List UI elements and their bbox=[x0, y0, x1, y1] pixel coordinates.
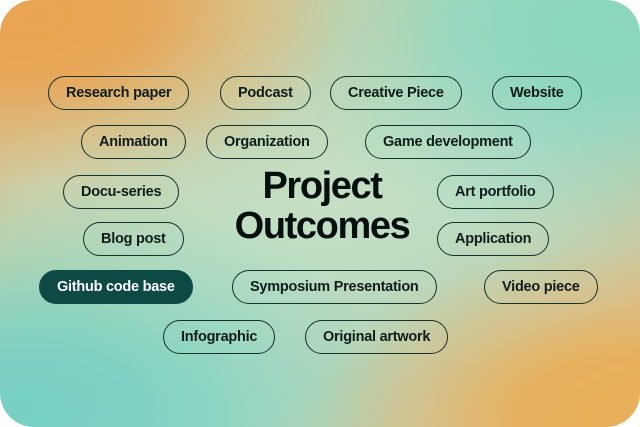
outcome-pill-label: Github code base bbox=[57, 280, 175, 295]
outcome-pill[interactable]: Animation bbox=[81, 125, 186, 159]
outcome-pill[interactable]: Podcast bbox=[220, 76, 311, 110]
outcome-pill-label: Application bbox=[455, 232, 531, 247]
outcome-pill[interactable]: Creative Piece bbox=[330, 76, 462, 110]
project-outcomes-card: Research paperPodcastCreative PieceWebsi… bbox=[0, 0, 640, 427]
outcome-pill-label: Blog post bbox=[101, 232, 166, 247]
page-title-line-1: Project bbox=[216, 166, 428, 206]
outcome-pill-label: Animation bbox=[99, 135, 168, 150]
outcome-pill-label: Symposium Presentation bbox=[250, 280, 419, 295]
page-title: Project Outcomes bbox=[216, 166, 428, 247]
outcome-pill-label: Video piece bbox=[502, 280, 580, 295]
outcome-pill[interactable]: Original artwork bbox=[305, 320, 448, 354]
outcome-pill[interactable]: Symposium Presentation bbox=[232, 270, 437, 304]
outcome-pill-label: Creative Piece bbox=[348, 86, 444, 101]
outcome-pill[interactable]: Art portfolio bbox=[437, 175, 554, 209]
outcome-pill-label: Game development bbox=[383, 135, 513, 150]
outcome-pill[interactable]: Infographic bbox=[163, 320, 275, 354]
outcome-pill-label: Art portfolio bbox=[455, 185, 536, 200]
outcome-pill[interactable]: Docu-series bbox=[63, 175, 179, 209]
outcome-pill-label: Docu-series bbox=[81, 185, 161, 200]
outcome-pill-label: Podcast bbox=[238, 86, 293, 101]
outcome-pill[interactable]: Application bbox=[437, 222, 549, 256]
outcome-pill-label: Infographic bbox=[181, 330, 257, 345]
outcome-pill-selected[interactable]: Github code base bbox=[39, 270, 193, 304]
outcome-pill-label: Organization bbox=[224, 135, 310, 150]
outcome-pill[interactable]: Video piece bbox=[484, 270, 598, 304]
outcome-pill[interactable]: Organization bbox=[206, 125, 328, 159]
outcome-pill[interactable]: Website bbox=[492, 76, 582, 110]
outcome-pill-label: Website bbox=[510, 86, 564, 101]
outcome-pill[interactable]: Blog post bbox=[83, 222, 184, 256]
page-title-line-2: Outcomes bbox=[216, 206, 428, 246]
outcome-pill-label: Original artwork bbox=[323, 330, 430, 345]
outcome-pill[interactable]: Game development bbox=[365, 125, 531, 159]
outcome-pill[interactable]: Research paper bbox=[48, 76, 189, 110]
outcome-pill-label: Research paper bbox=[66, 86, 171, 101]
